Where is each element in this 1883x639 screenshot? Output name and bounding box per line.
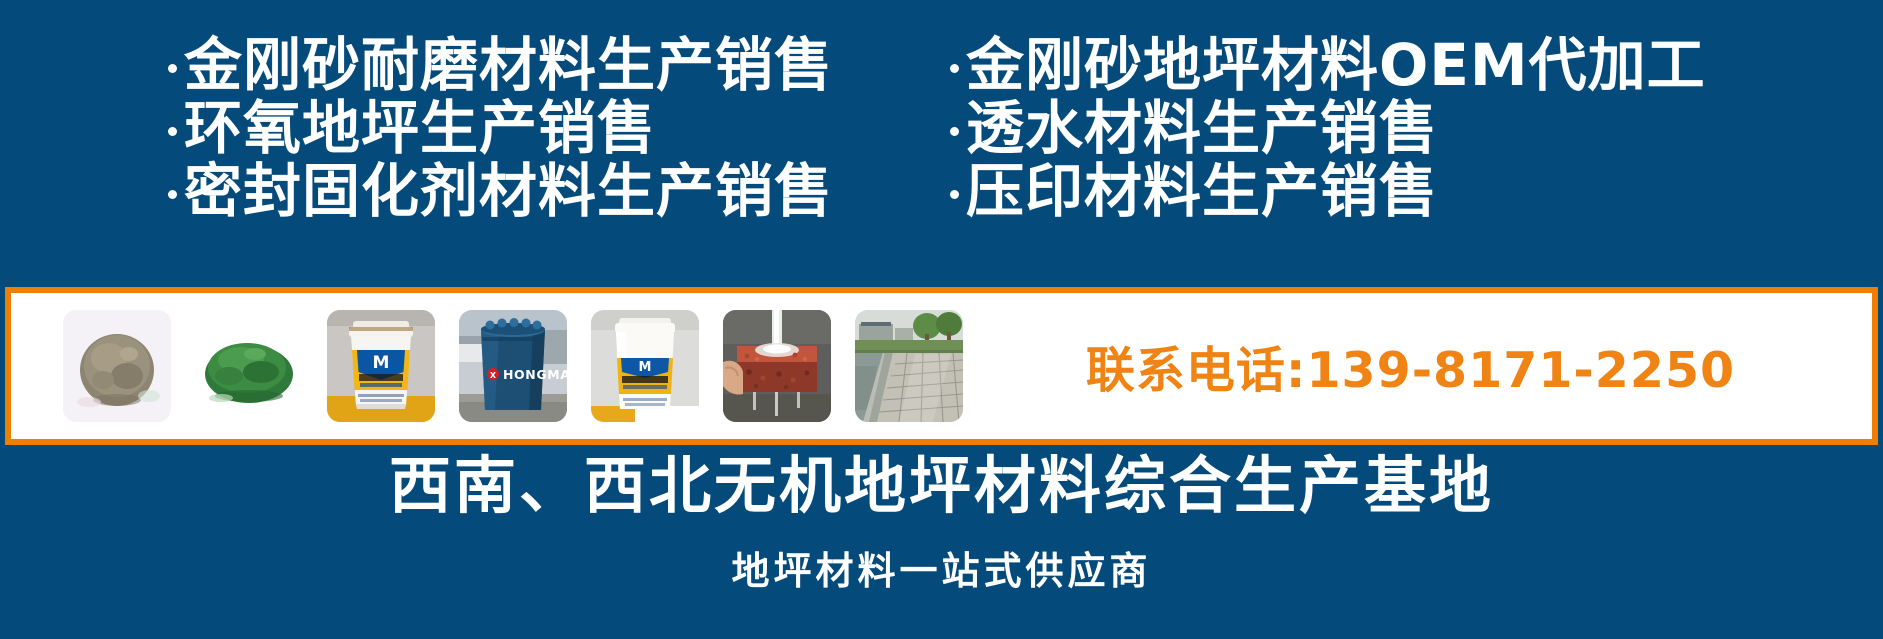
bullet-label: 环氧地坪生产销售: [184, 97, 656, 160]
bullet-dot-icon: [168, 190, 177, 199]
bullet-label: 压印材料生产销售: [966, 160, 1438, 223]
promo-banner: 金刚砂耐磨材料生产销售 环氧地坪生产销售 密封固化剂材料生产销售 金刚砂地坪材料…: [0, 0, 1883, 639]
sealer-pail-icon: M: [327, 310, 435, 422]
green-powder-icon: [195, 310, 303, 422]
bullet-item: 金刚砂耐磨材料生产销售: [168, 34, 880, 97]
bullet-dot-icon: [950, 190, 959, 199]
product-thumb-gray-hardener-powder: [63, 310, 171, 422]
product-thumb-stamped-concrete-path: [855, 310, 963, 422]
bullet-label: 密封固化剂材料生产销售: [184, 160, 833, 223]
service-bullets: 金刚砂耐磨材料生产销售 环氧地坪生产销售 密封固化剂材料生产销售 金刚砂地坪材料…: [0, 34, 1883, 274]
product-thumb-hongma-drum: X HONGMA: [459, 310, 567, 422]
bullet-label: 透水材料生产销售: [966, 97, 1438, 160]
bullet-dot-icon: [950, 64, 959, 73]
svg-text:X: X: [490, 371, 497, 380]
bullet-item: 金刚砂地坪材料OEM代加工: [950, 34, 1883, 97]
product-thumb-green-hardener-powder: [195, 310, 303, 422]
page-title: 西南、西北无机地坪材料综合生产基地: [0, 455, 1883, 517]
epoxy-pail-icon: M: [591, 310, 699, 422]
bullet-dot-icon: [168, 127, 177, 136]
bullet-item: 环氧地坪生产销售: [168, 97, 880, 160]
product-thumb-sealer-pail: M: [327, 310, 435, 422]
hongma-drum-icon: X HONGMA: [459, 310, 567, 422]
stamped-path-icon: [855, 310, 963, 422]
page-subtitle: 地坪材料一站式供应商: [0, 552, 1883, 590]
product-strip: M: [5, 287, 1878, 445]
bullet-label: 金刚砂地坪材料OEM代加工: [966, 34, 1706, 97]
bullet-item: 密封固化剂材料生产销售: [168, 160, 880, 223]
bullet-item: 压印材料生产销售: [950, 160, 1883, 223]
bullet-item: 透水材料生产销售: [950, 97, 1883, 160]
contact-phone[interactable]: 联系电话:139-8171-2250: [963, 331, 1872, 402]
product-thumbnail-list: M: [11, 310, 963, 422]
permeable-concrete-icon: [723, 310, 831, 422]
svg-text:M: M: [373, 353, 390, 373]
bullet-column-left: 金刚砂耐磨材料生产销售 环氧地坪生产销售 密封固化剂材料生产销售: [0, 34, 880, 274]
product-thumb-epoxy-coating-pail: M: [591, 310, 699, 422]
svg-text:HONGMA: HONGMA: [503, 367, 567, 382]
gray-powder-icon: [63, 310, 171, 422]
bullet-dot-icon: [950, 127, 959, 136]
svg-text:M: M: [639, 360, 652, 375]
bullet-dot-icon: [168, 64, 177, 73]
product-thumb-permeable-concrete-slab: [723, 310, 831, 422]
bullet-label: 金刚砂耐磨材料生产销售: [184, 34, 833, 97]
bullet-column-right: 金刚砂地坪材料OEM代加工 透水材料生产销售 压印材料生产销售: [880, 34, 1883, 274]
